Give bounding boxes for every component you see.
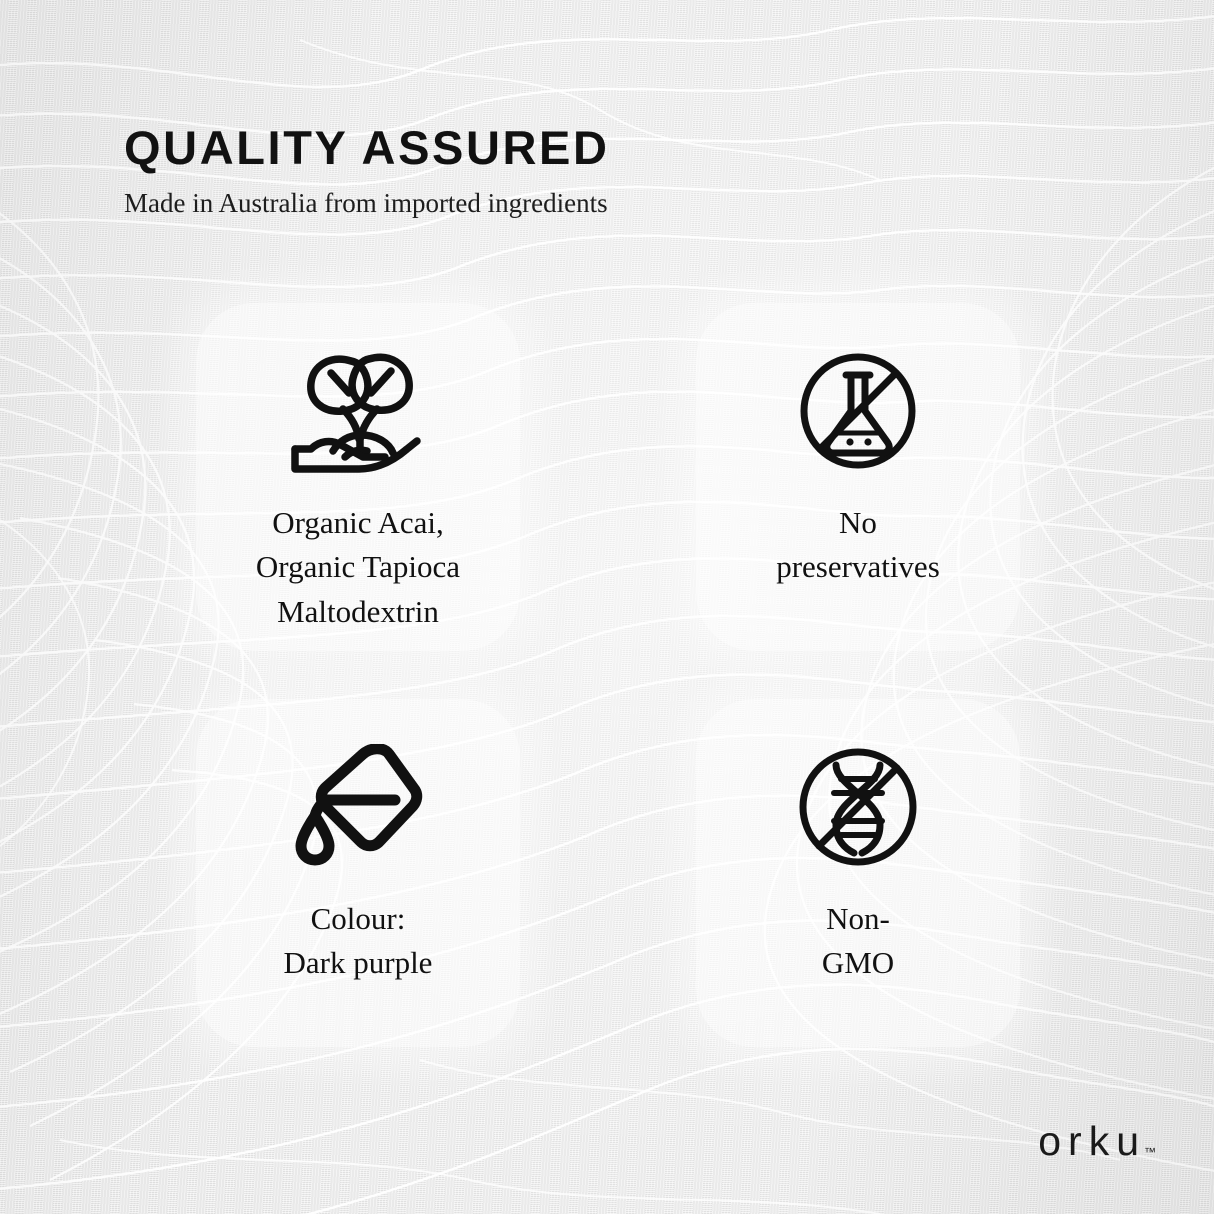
feature-card-non-gmo: Non- GMO bbox=[696, 699, 1020, 1047]
brand-logo: orku ™ bbox=[1038, 1121, 1156, 1162]
feature-card-grid: Organic Acai, Organic Tapioca Maltodextr… bbox=[196, 303, 1020, 1047]
brand-wordmark: orku bbox=[1038, 1121, 1146, 1162]
paint-bucket-drop-icon bbox=[285, 739, 431, 875]
feature-card-colour: Colour: Dark purple bbox=[196, 699, 520, 1047]
trademark-symbol: ™ bbox=[1144, 1146, 1156, 1162]
no-dna-icon bbox=[785, 739, 931, 875]
feature-card-ingredients: Organic Acai, Organic Tapioca Maltodextr… bbox=[196, 303, 520, 651]
feature-card-label: Organic Acai, Organic Tapioca Maltodextr… bbox=[250, 479, 466, 634]
feature-card-label: No preservatives bbox=[770, 479, 946, 590]
seedling-in-hand-icon bbox=[285, 343, 431, 479]
quality-assured-infographic: QUALITY ASSURED Made in Australia from i… bbox=[0, 0, 1214, 1214]
feature-card-no-preservatives: No preservatives bbox=[696, 303, 1020, 651]
page-subtitle: Made in Australia from imported ingredie… bbox=[124, 172, 824, 219]
feature-card-label: Non- GMO bbox=[816, 875, 900, 986]
no-flask-icon bbox=[785, 343, 931, 479]
page-title: QUALITY ASSURED bbox=[124, 123, 824, 172]
header: QUALITY ASSURED Made in Australia from i… bbox=[124, 123, 824, 219]
feature-card-label: Colour: Dark purple bbox=[278, 875, 439, 986]
